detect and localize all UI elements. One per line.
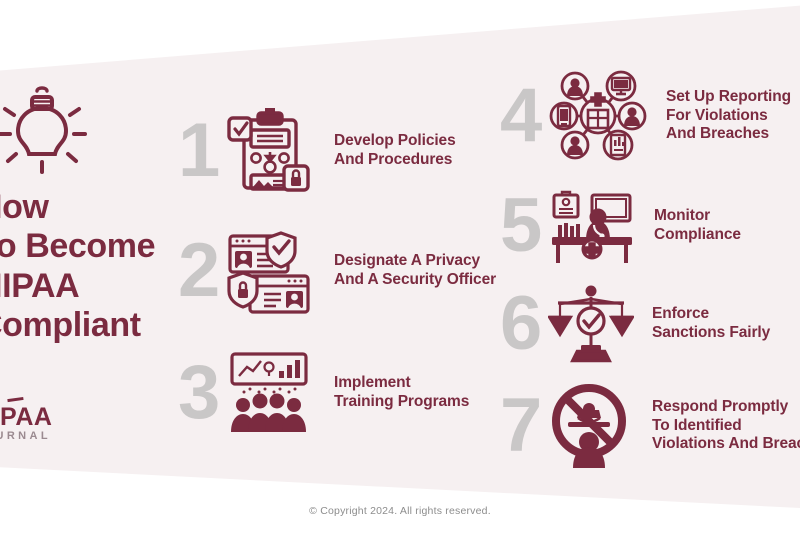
- desk-monitor-compliance-icon: [548, 185, 636, 267]
- title-line-4: Compliant: [0, 306, 187, 345]
- step-4-line-1: Set Up Reporting: [666, 88, 791, 107]
- step-item-7: 7 Res: [500, 384, 800, 468]
- hipaa-journal-logo: HIPAA JOURNAL: [0, 405, 52, 442]
- step-4-line-3: And Breaches: [666, 125, 791, 144]
- id-cards-shield-icon: [226, 228, 312, 314]
- title-line-3: HIPAA: [0, 267, 187, 306]
- step-text-2: Designate A Privacy And A Security Offic…: [334, 252, 496, 290]
- step-number-4: 4: [500, 85, 548, 147]
- step-text-7: Respond Promptly To Identified Violation…: [652, 398, 800, 455]
- page-title: How To Become HIPAA Compliant: [0, 188, 187, 346]
- lightbulb-icon: [0, 82, 187, 178]
- copyright-footer: © Copyright 2024. All rights reserved.: [0, 505, 800, 517]
- step-text-1: Develop Policies And Procedures: [334, 132, 456, 170]
- step-1-line-1: Develop Policies: [334, 132, 456, 151]
- step-3-line-2: Training Programs: [334, 393, 469, 412]
- step-6-line-2: Sanctions Fairly: [652, 324, 770, 343]
- step-2-line-2: And A Security Officer: [334, 271, 496, 290]
- step-5-line-2: Compliance: [654, 226, 741, 245]
- step-item-3: 3: [178, 350, 469, 436]
- step-item-6: 6: [500, 283, 770, 365]
- clipboard-policy-icon: [226, 108, 312, 194]
- step-7-line-2: To Identified: [652, 417, 800, 436]
- title-line-2: To Become: [0, 227, 187, 266]
- step-number-6: 6: [500, 293, 548, 355]
- step-3-line-1: Implement: [334, 374, 469, 393]
- step-text-4: Set Up Reporting For Violations And Brea…: [666, 88, 791, 145]
- step-5-line-1: Monitor: [654, 207, 741, 226]
- step-number-3: 3: [178, 362, 226, 424]
- step-number-1: 1: [178, 120, 226, 182]
- reporting-network-icon: [548, 66, 648, 166]
- title-block: How To Become HIPAA Compliant: [0, 82, 187, 346]
- step-7-line-1: Respond Promptly: [652, 398, 800, 417]
- step-number-7: 7: [500, 395, 548, 457]
- step-6-line-1: Enforce: [652, 305, 770, 324]
- step-number-5: 5: [500, 195, 548, 257]
- scales-of-justice-icon: [548, 283, 634, 365]
- step-item-1: 1: [178, 108, 456, 194]
- logo-sub-text: JOURNAL: [0, 431, 52, 442]
- step-item-4: 4: [500, 66, 791, 166]
- step-7-line-3: Violations And Breaches: [652, 435, 800, 454]
- step-item-2: 2: [178, 228, 496, 314]
- title-line-1: How: [0, 188, 187, 227]
- step-text-5: Monitor Compliance: [654, 207, 741, 245]
- logo-tick-icon: [7, 397, 24, 410]
- step-number-2: 2: [178, 240, 226, 302]
- step-text-6: Enforce Sanctions Fairly: [652, 305, 770, 343]
- step-1-line-2: And Procedures: [334, 151, 456, 170]
- step-2-line-1: Designate A Privacy: [334, 252, 496, 271]
- step-text-3: Implement Training Programs: [334, 374, 469, 412]
- step-item-5: 5: [500, 185, 741, 267]
- prohibited-alert-icon: [548, 384, 634, 468]
- step-4-line-2: For Violations: [666, 107, 791, 126]
- infographic-canvas: How To Become HIPAA Compliant HIPAA JOUR…: [0, 0, 800, 533]
- training-presentation-icon: [226, 350, 312, 436]
